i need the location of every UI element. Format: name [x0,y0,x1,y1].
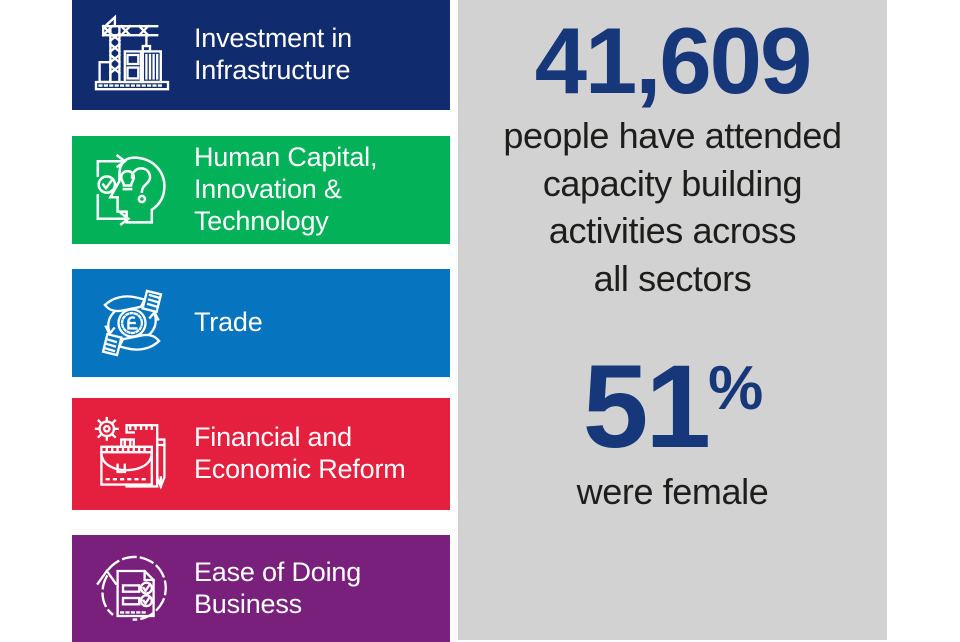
sector-item-trade[interactable]: Trade [72,269,450,377]
sector-label-trade: Trade [180,307,450,339]
stat-female-share-value-group: 51% [464,348,881,466]
percent-sign: % [708,354,762,423]
sector-label-financial-and-economic-reform: Financial and Economic Reform [180,422,450,486]
infographic-canvas: Investment in Infrastructure [0,0,960,640]
document-checklist-cycle-icon [84,541,180,637]
sector-item-financial-and-economic-reform[interactable]: Financial and Economic Reform [72,398,450,510]
stat-female-share: 51% were female [458,348,887,516]
stat-attendance-value: 41,609 [464,14,881,108]
statistics-panel: 41,609 people have attended capacity bui… [458,0,887,640]
sector-label-ease-of-doing-business: Ease of Doing Business [180,557,450,621]
sector-label-investment-in-infrastructure: Investment in Infrastructure [180,23,450,87]
sector-item-ease-of-doing-business[interactable]: Ease of Doing Business [72,535,450,642]
briefcase-pencil-gear-icon [84,406,180,502]
sector-item-human-capital-innovation-technology[interactable]: Human Capital, Innovation & Technology [72,136,450,244]
sector-list: Investment in Infrastructure [72,0,450,640]
hands-exchanging-pound-coin-icon [84,275,180,371]
sector-item-investment-in-infrastructure[interactable]: Investment in Infrastructure [72,0,450,110]
sector-label-human-capital-innovation-technology: Human Capital, Innovation & Technology [180,142,450,238]
stat-female-share-caption: were female [464,468,881,516]
stat-female-share-value: 51 [583,341,708,473]
stat-attendance-caption: people have attended capacity building a… [464,112,881,302]
construction-crane-icon [84,7,180,103]
head-question-mark-icon [84,142,180,238]
stat-attendance: 41,609 people have attended capacity bui… [458,14,887,302]
